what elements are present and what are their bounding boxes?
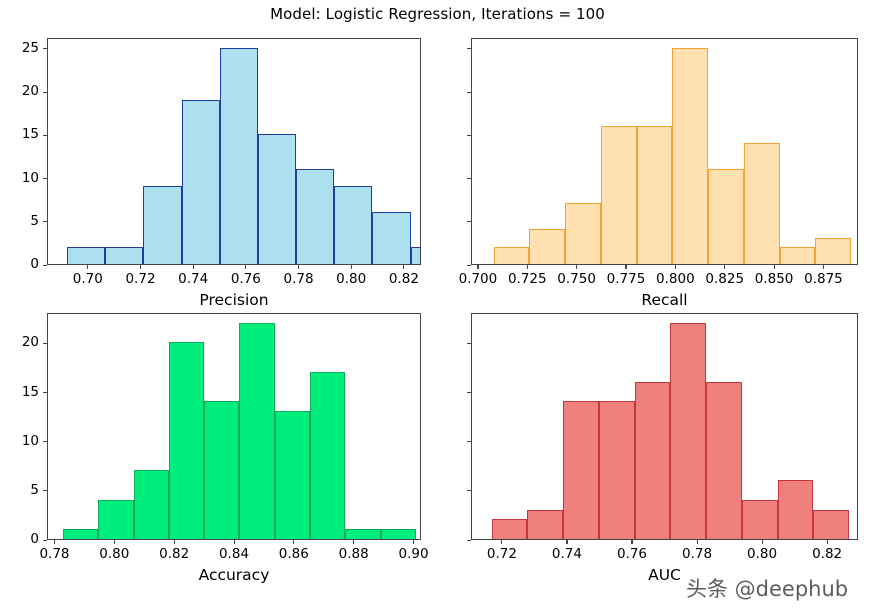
histogram-bar: [98, 500, 133, 539]
histogram-bar: [220, 48, 258, 264]
x-tick-label: 0.78: [269, 271, 329, 287]
x-tick-mark: [193, 265, 194, 269]
plot-area-precision: [47, 38, 421, 265]
x-tick-label: 0.80: [732, 546, 792, 562]
histogram-bar: [275, 411, 310, 539]
histogram-bar: [778, 480, 814, 539]
histogram-bar: [105, 247, 143, 264]
x-tick-mark: [501, 540, 502, 544]
x-tick-mark: [87, 265, 88, 269]
x-tick-label: 0.80: [84, 546, 144, 562]
histogram-bar: [815, 238, 851, 264]
histogram-bar: [529, 229, 565, 264]
y-tick-label: 0: [0, 531, 39, 547]
y-tick-label: 0: [0, 256, 39, 272]
x-tick-mark: [527, 265, 528, 269]
y-tick-mark: [467, 178, 471, 179]
histogram-bars-precision: [48, 39, 420, 264]
histogram-bar: [67, 247, 105, 264]
histogram-bar: [492, 519, 528, 539]
y-tick-label: 10: [0, 433, 39, 449]
watermark-deephub: 头条 @deephub: [686, 573, 848, 603]
y-tick-mark: [467, 343, 471, 344]
y-tick-label: 15: [0, 126, 39, 142]
x-tick-mark: [234, 540, 235, 544]
x-tick-label: 0.82: [374, 271, 434, 287]
histogram-bars-auc: [472, 314, 857, 539]
x-tick-label: 0.72: [111, 271, 171, 287]
histogram-bar: [706, 382, 742, 539]
x-tick-mark: [631, 540, 632, 544]
x-tick-label: 0.78: [667, 546, 727, 562]
y-tick-mark: [467, 48, 471, 49]
histogram-bar: [635, 382, 671, 539]
y-tick-label: 20: [0, 83, 39, 99]
x-tick-label: 0.84: [204, 546, 264, 562]
histogram-bar: [601, 126, 637, 264]
histogram-bar: [563, 401, 599, 539]
x-tick-mark: [827, 540, 828, 544]
x-tick-label: 0.86: [264, 546, 324, 562]
x-tick-mark: [762, 540, 763, 544]
y-tick-mark: [467, 135, 471, 136]
x-tick-mark: [245, 265, 246, 269]
x-tick-mark: [174, 540, 175, 544]
histogram-bar: [708, 169, 744, 264]
x-tick-mark: [54, 540, 55, 544]
x-tick-mark: [823, 265, 824, 269]
x-tick-label: 0.74: [537, 546, 597, 562]
histogram-bar: [637, 126, 673, 264]
plot-area-accuracy: [47, 313, 421, 540]
y-tick-mark: [43, 265, 47, 266]
y-tick-label: 25: [0, 40, 39, 56]
x-tick-mark: [675, 265, 676, 269]
x-tick-mark: [576, 265, 577, 269]
x-tick-label: 0.70: [58, 271, 118, 287]
x-tick-mark: [625, 265, 626, 269]
histogram-bar: [742, 500, 778, 539]
histogram-bar: [63, 529, 98, 539]
x-tick-label: 0.72: [472, 546, 532, 562]
histogram-bar: [670, 323, 706, 539]
y-tick-label: 5: [0, 482, 39, 498]
x-tick-mark: [351, 265, 352, 269]
y-tick-mark: [43, 178, 47, 179]
y-tick-mark: [467, 92, 471, 93]
x-tick-label: 0.88: [324, 546, 384, 562]
y-tick-mark: [43, 441, 47, 442]
x-tick-mark: [403, 265, 404, 269]
x-tick-mark: [140, 265, 141, 269]
x-tick-label: 0.90: [384, 546, 444, 562]
y-tick-mark: [467, 490, 471, 491]
x-tick-mark: [298, 265, 299, 269]
histogram-bar: [204, 401, 239, 539]
x-axis-label-accuracy: Accuracy: [47, 566, 421, 584]
histogram-bar: [258, 134, 296, 264]
histogram-bar: [310, 372, 345, 539]
histogram-bar: [527, 510, 563, 539]
histogram-bar: [345, 529, 380, 539]
y-tick-mark: [467, 392, 471, 393]
histogram-bar: [813, 510, 849, 539]
y-tick-mark: [43, 490, 47, 491]
y-tick-mark: [43, 92, 47, 93]
histogram-bar: [239, 323, 274, 539]
histogram-bar: [169, 342, 204, 539]
histogram-bar: [494, 247, 530, 264]
x-tick-mark: [477, 265, 478, 269]
y-tick-mark: [43, 135, 47, 136]
y-tick-label: 20: [0, 334, 39, 350]
y-tick-label: 15: [0, 384, 39, 400]
histogram-bar: [143, 186, 181, 264]
histogram-bar: [599, 401, 635, 539]
x-tick-mark: [413, 540, 414, 544]
y-tick-mark: [43, 48, 47, 49]
histogram-bar: [296, 169, 334, 264]
x-tick-label: 0.82: [797, 546, 857, 562]
y-tick-mark: [467, 265, 471, 266]
x-tick-label: 0.76: [216, 271, 276, 287]
histogram-bar: [411, 247, 421, 264]
histogram-bar: [565, 203, 601, 264]
y-tick-mark: [43, 343, 47, 344]
histogram-bar: [334, 186, 372, 264]
y-tick-mark: [43, 221, 47, 222]
y-tick-label: 5: [0, 213, 39, 229]
histogram-bar: [780, 247, 816, 264]
x-axis-label-precision: Precision: [47, 291, 421, 309]
x-tick-mark: [774, 265, 775, 269]
x-tick-label: 0.74: [163, 271, 223, 287]
histogram-bars-recall: [472, 39, 857, 264]
y-tick-mark: [467, 441, 471, 442]
x-tick-mark: [697, 540, 698, 544]
x-tick-label: 0.76: [602, 546, 662, 562]
x-tick-mark: [114, 540, 115, 544]
y-tick-mark: [467, 540, 471, 541]
histogram-bar: [672, 48, 708, 264]
x-tick-label: 0.875: [793, 271, 853, 287]
x-tick-label: 0.82: [144, 546, 204, 562]
histogram-bar: [372, 212, 410, 264]
y-tick-mark: [467, 221, 471, 222]
x-tick-label: 0.78: [24, 546, 84, 562]
figure-canvas: Model: Logistic Regression, Iterations =…: [0, 0, 875, 612]
x-tick-mark: [353, 540, 354, 544]
x-tick-mark: [566, 540, 567, 544]
x-axis-label-recall: Recall: [471, 291, 858, 309]
histogram-bars-accuracy: [48, 314, 420, 539]
x-tick-label: 0.80: [321, 271, 381, 287]
histogram-bar: [381, 529, 416, 539]
x-tick-mark: [724, 265, 725, 269]
x-tick-mark: [293, 540, 294, 544]
histogram-bar: [744, 143, 780, 264]
plot-area-auc: [471, 313, 858, 540]
y-tick-mark: [43, 392, 47, 393]
plot-area-recall: [471, 38, 858, 265]
histogram-bar: [134, 470, 169, 539]
y-tick-label: 10: [0, 170, 39, 186]
figure-title: Model: Logistic Regression, Iterations =…: [0, 5, 875, 23]
histogram-bar: [182, 100, 220, 264]
y-tick-mark: [43, 540, 47, 541]
